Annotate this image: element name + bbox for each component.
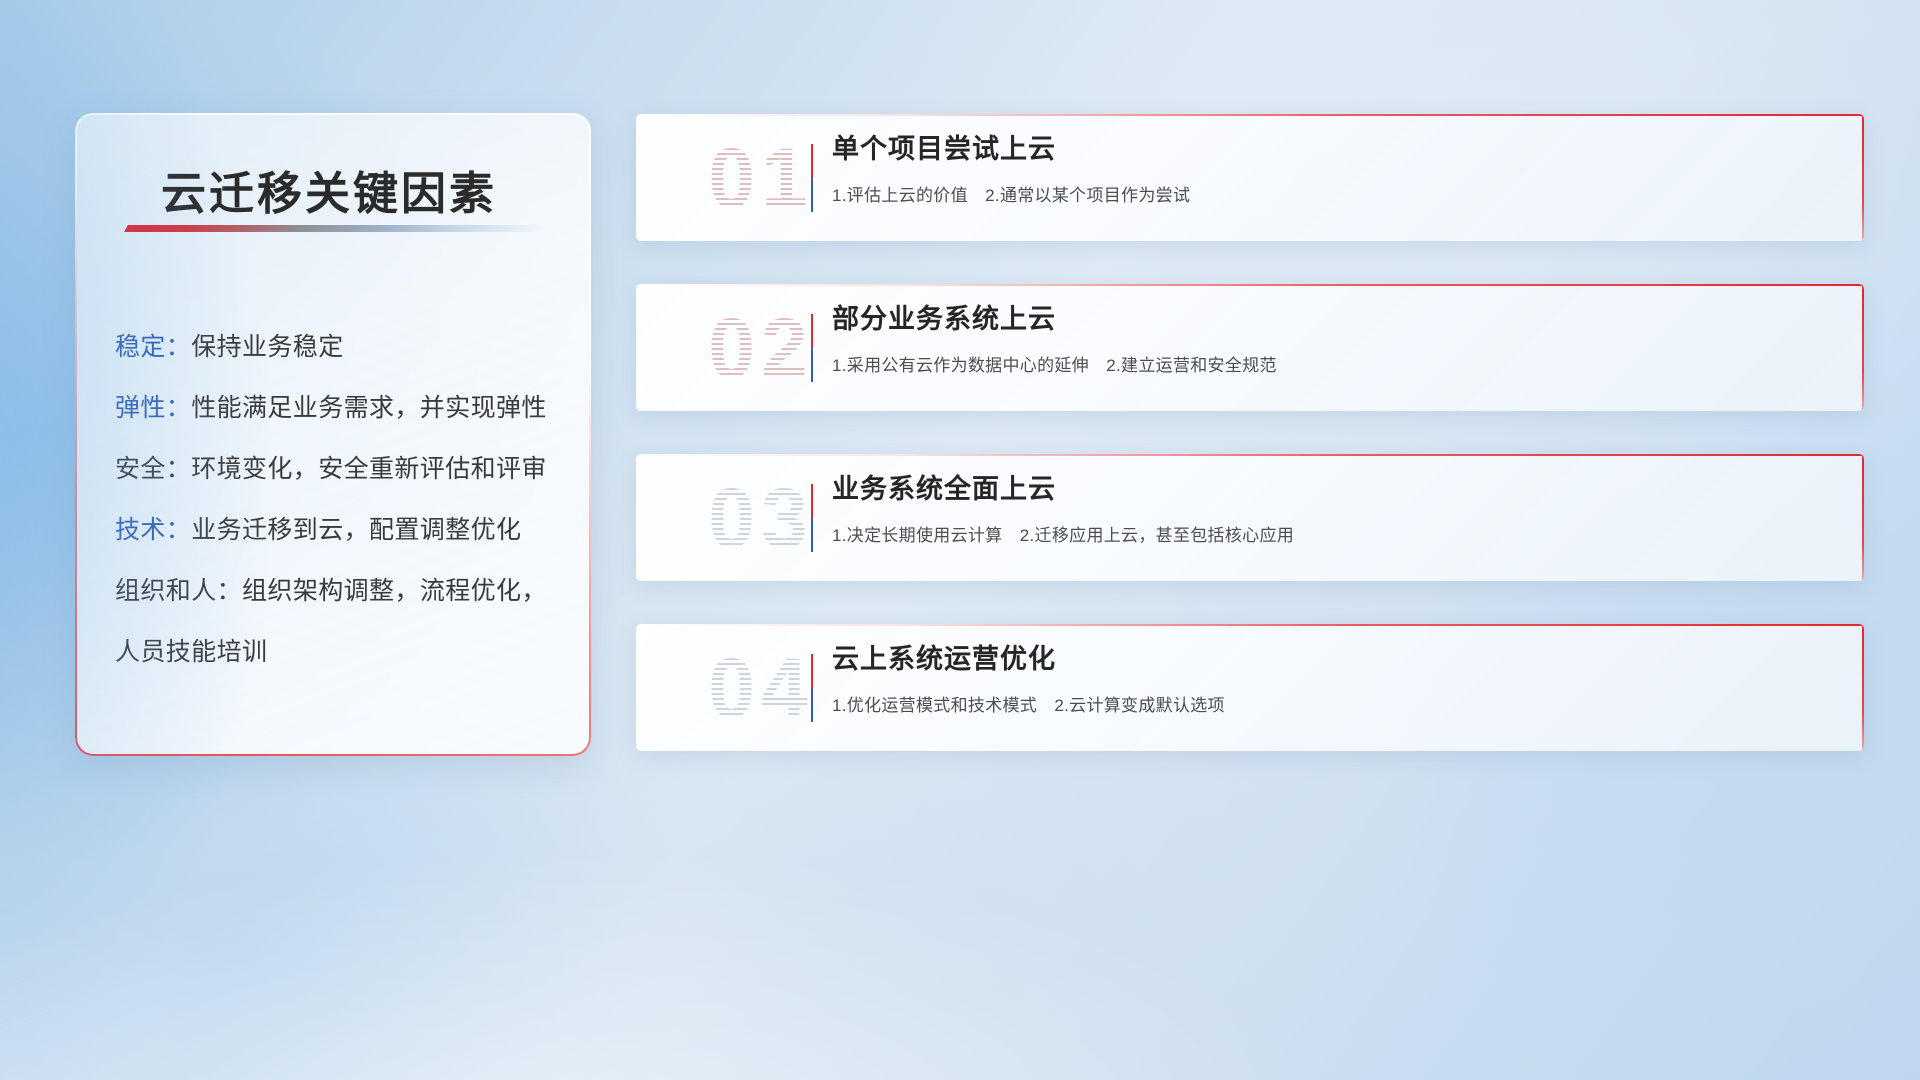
slide-canvas: 云迁移关键因素 稳定：保持业务稳定 弹性：性能满足业务需求，并实现弹性 安全：环… <box>0 0 1920 1080</box>
list-item-key: 安全： <box>115 455 191 483</box>
step-subtitle: 1.评估上云的价值 2.通常以某个项目作为尝试 <box>832 181 1834 206</box>
list-item-key: 组织和人： <box>115 577 242 605</box>
step-divider-bar <box>811 654 813 722</box>
step-body: 部分业务系统上云 1.采用公有云作为数据中心的延伸 2.建立运营和安全规范 <box>832 302 1834 376</box>
step-title: 单个项目尝试上云 <box>832 132 1834 167</box>
list-item-key: 稳定： <box>115 333 191 361</box>
step-title: 业务系统全面上云 <box>832 472 1834 507</box>
step-title: 云上系统运营优化 <box>832 642 1834 677</box>
step-body: 业务系统全面上云 1.决定长期使用云计算 2.迁移应用上云，甚至包括核心应用 <box>832 472 1834 546</box>
list-item-value: 环境变化，安全重新评估和评审 <box>191 455 547 483</box>
title-underline-rule <box>124 225 546 232</box>
list-item: 技术：业务迁移到云，配置调整优化 <box>115 500 565 561</box>
migration-steps-list: 01 单个项目尝试上云 1.评估上云的价值 2.通常以某个项目作为尝试 02 部… <box>636 114 1864 794</box>
step-title: 部分业务系统上云 <box>832 302 1834 337</box>
list-item-value: 业务迁移到云，配置调整优化 <box>191 516 521 544</box>
list-item-key: 弹性： <box>115 394 191 422</box>
step-subtitle: 1.优化运营模式和技术模式 2.云计算变成默认选项 <box>832 691 1834 716</box>
step-card-04[interactable]: 04 云上系统运营优化 1.优化运营模式和技术模式 2.云计算变成默认选项 <box>636 624 1864 751</box>
step-divider-bar <box>811 144 813 212</box>
list-item: 弹性：性能满足业务需求，并实现弹性 <box>115 378 565 439</box>
step-body: 云上系统运营优化 1.优化运营模式和技术模式 2.云计算变成默认选项 <box>832 642 1834 716</box>
step-card-02[interactable]: 02 部分业务系统上云 1.采用公有云作为数据中心的延伸 2.建立运营和安全规范 <box>636 284 1864 411</box>
step-body: 单个项目尝试上云 1.评估上云的价值 2.通常以某个项目作为尝试 <box>832 132 1834 206</box>
list-item: 稳定：保持业务稳定 <box>115 317 565 378</box>
key-factors-card: 云迁移关键因素 稳定：保持业务稳定 弹性：性能满足业务需求，并实现弹性 安全：环… <box>75 113 591 756</box>
list-item-value: 性能满足业务需求，并实现弹性 <box>191 394 547 422</box>
key-factors-list: 稳定：保持业务稳定 弹性：性能满足业务需求，并实现弹性 安全：环境变化，安全重新… <box>115 317 565 683</box>
page-title: 云迁移关键因素 <box>161 157 497 222</box>
step-subtitle: 1.决定长期使用云计算 2.迁移应用上云，甚至包括核心应用 <box>832 521 1834 546</box>
step-divider-bar <box>811 484 813 552</box>
step-card-03[interactable]: 03 业务系统全面上云 1.决定长期使用云计算 2.迁移应用上云，甚至包括核心应… <box>636 454 1864 581</box>
step-subtitle: 1.采用公有云作为数据中心的延伸 2.建立运营和安全规范 <box>832 351 1834 376</box>
step-card-01[interactable]: 01 单个项目尝试上云 1.评估上云的价值 2.通常以某个项目作为尝试 <box>636 114 1864 241</box>
list-item-value: 保持业务稳定 <box>191 333 343 361</box>
list-item: 安全：环境变化，安全重新评估和评审 <box>115 439 565 500</box>
list-item-key: 技术： <box>115 516 191 544</box>
list-item: 组织和人：组织架构调整，流程优化，人员技能培训 <box>115 561 565 683</box>
step-divider-bar <box>811 314 813 382</box>
